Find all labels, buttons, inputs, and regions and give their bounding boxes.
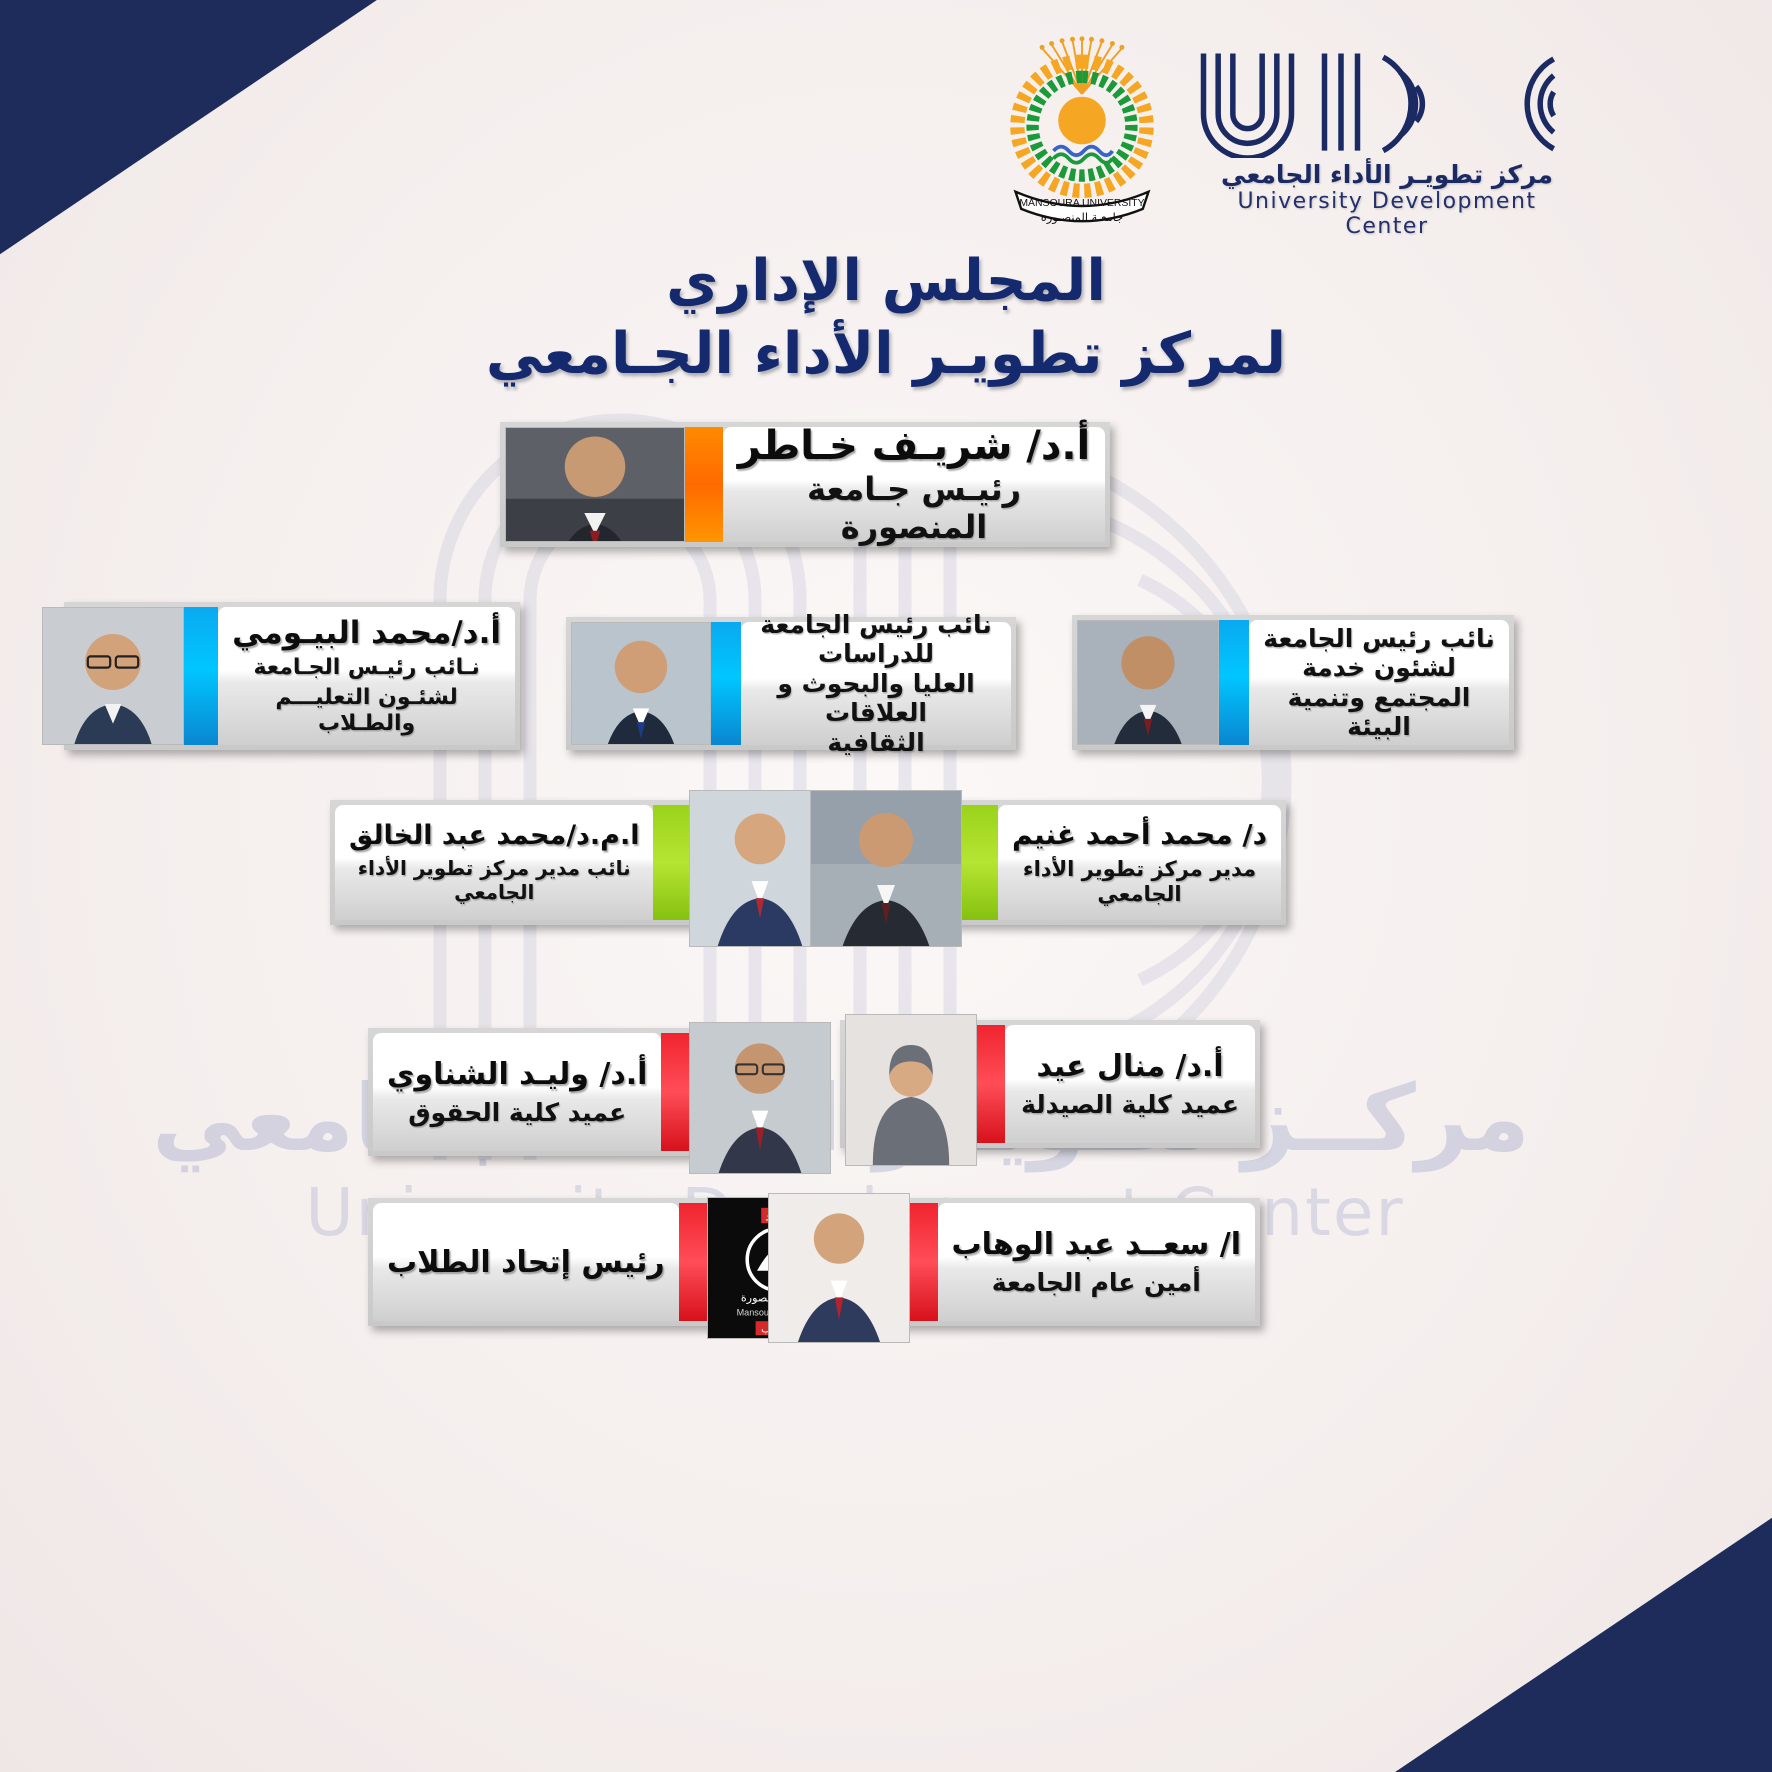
member-card-text: أ.د/ شريـف خـاطر رئيـس جـامعة المنصورة (723, 427, 1105, 542)
member-name: د/ محمد أحمد غنيم (1012, 818, 1267, 851)
member-accent-bar (910, 1203, 938, 1321)
member-card-dean-law[interactable]: أ.د/ وليـد الشناوي عميد كلية الحقوق (368, 1028, 793, 1156)
member-accent-bar (711, 622, 741, 745)
member-accent-bar (184, 607, 218, 745)
member-role: نائب مدير مركز تطوير الأداء الجامعي (349, 857, 639, 904)
member-role-line2: لشئون خدمة المجتمع وتنمية (1263, 653, 1495, 712)
member-card-vp-education[interactable]: أ.د/محمد البيـومي نـائب رئيـس الجـامعة ل… (64, 602, 520, 750)
member-name: ا.م.د/محمد عبد الخالق (349, 820, 639, 851)
member-role-line2: لشئـون التعليـــم والطـلاب (232, 685, 501, 737)
member-name: أ.د/ وليـد الشناوي (387, 1057, 647, 1092)
member-photo (1077, 620, 1219, 745)
udc-logo: مركز تطويـر الأداء الجامعي University De… (1202, 48, 1572, 233)
member-card-secretary-general[interactable]: ا/ سعــد عبد الوهاب أمين عام الجامعة (828, 1198, 1260, 1326)
portrait-placeholder-icon (846, 1015, 976, 1165)
poster-root: مركــز تطويــر الأداء الجــامعي Universi… (0, 0, 1772, 1772)
member-card-text: ا/ سعــد عبد الوهاب أمين عام الجامعة (938, 1203, 1255, 1321)
member-photo (845, 1014, 977, 1166)
member-accent-bar (661, 1033, 689, 1151)
member-card-president[interactable]: أ.د/ شريـف خـاطر رئيـس جـامعة المنصورة (500, 422, 1110, 547)
member-card-text: نائب رئيس الجامعة للدراسات العليا والبحو… (741, 622, 1011, 745)
member-role-line3: البيئة (1347, 712, 1411, 742)
member-role: نائب رئيس الجامعة للدراسات (755, 610, 997, 669)
udc-english-label: University Development Center (1202, 189, 1572, 239)
mansoura-university-seal-icon: MANSOURA UNIVERSITY جامعـة المنصـورة (987, 35, 1177, 225)
member-photo (42, 607, 184, 745)
member-role-line3: الثقافية (827, 728, 924, 758)
member-name: أ.د/ شريـف خـاطر (738, 423, 1091, 469)
member-name: أ.د/محمد البيـومي (232, 615, 501, 651)
poster-header: MANSOURA UNIVERSITY جامعـة المنصـورة (0, 30, 1772, 230)
member-role: نـائب رئيـس الجـامعة (253, 655, 479, 681)
member-role: نائب رئيس الجامعة (1263, 624, 1494, 654)
member-accent-bar (962, 805, 998, 920)
portrait-placeholder-icon (1078, 621, 1218, 744)
udc-monogram-icon (1187, 48, 1572, 158)
member-card-text: د/ محمد أحمد غنيم مدير مركز تطوير الأداء… (998, 805, 1281, 920)
member-role: رئيـس جـامعة المنصورة (737, 471, 1091, 547)
member-accent-bar (685, 427, 723, 542)
portrait-placeholder-icon (690, 1023, 830, 1173)
member-role: عميد كلية الصيدلة (1021, 1090, 1239, 1120)
member-card-text: أ.د/ وليـد الشناوي عميد كلية الحقوق (373, 1033, 661, 1151)
portrait-placeholder-icon (43, 608, 183, 744)
member-name: رئيس إتحاد الطلاب (387, 1245, 665, 1280)
member-card-dean-pharmacy[interactable]: أ.د/ منال عيد عميد كلية الصيدلة (840, 1020, 1260, 1148)
bottom-right-navy-ribbon (673, 1420, 1772, 1772)
portrait-placeholder-icon (506, 428, 684, 541)
member-photo (505, 427, 685, 542)
page-title-line2: لمركز تطويـر الأداء الجـامعي (0, 318, 1772, 391)
member-name: أ.د/ منال عيد (1036, 1049, 1223, 1084)
member-role: مدير مركز تطوير الأداء الجامعي (1012, 857, 1267, 907)
svg-text:جامعـة المنصـورة: جامعـة المنصـورة (1041, 210, 1123, 225)
page-title-line1: المجلس الإداري (0, 245, 1772, 318)
svg-text:MANSOURA UNIVERSITY: MANSOURA UNIVERSITY (1019, 198, 1144, 209)
portrait-placeholder-icon (769, 1194, 909, 1342)
member-photo (689, 1022, 831, 1174)
top-left-red-ribbon (0, 0, 490, 34)
member-card-director[interactable]: د/ محمد أحمد غنيم مدير مركز تطوير الأداء… (824, 800, 1286, 925)
member-card-deputy-director[interactable]: ا.م.د/محمد عبد الخالق نائب مدير مركز تطو… (330, 800, 790, 925)
member-role: أمين عام الجامعة (992, 1268, 1201, 1298)
portrait-placeholder-icon (811, 791, 961, 946)
member-card-text: ا.م.د/محمد عبد الخالق نائب مدير مركز تطو… (335, 805, 653, 920)
portrait-placeholder-icon (572, 623, 710, 744)
member-card-text: أ.د/ منال عيد عميد كلية الصيدلة (1005, 1025, 1255, 1143)
bottom-right-red-ribbon (1282, 1738, 1772, 1772)
bottom-right-white-ribbon (1377, 1653, 1772, 1772)
member-card-text: رئيس إتحاد الطلاب (373, 1203, 679, 1321)
member-photo (571, 622, 711, 745)
member-card-students-union[interactable]: رئيس إتحاد الطلاب اتحــاد جامعة المنصورة… (368, 1198, 793, 1326)
member-card-vp-community-service[interactable]: نائب رئيس الجامعة لشئون خدمة المجتمع وتن… (1072, 615, 1514, 750)
member-accent-bar (653, 805, 689, 920)
member-accent-bar (977, 1025, 1005, 1143)
member-photo (768, 1193, 910, 1343)
member-card-text: أ.د/محمد البيـومي نـائب رئيـس الجـامعة ل… (218, 607, 515, 745)
member-photo (810, 790, 962, 947)
member-name: ا/ سعــد عبد الوهاب (952, 1227, 1241, 1262)
member-card-vp-graduate-studies[interactable]: نائب رئيس الجامعة للدراسات العليا والبحو… (566, 617, 1016, 750)
member-accent-bar (1219, 620, 1249, 745)
udc-arabic-label: مركز تطويـر الأداء الجامعي (1202, 160, 1572, 189)
member-accent-bar (679, 1203, 707, 1321)
member-card-text: نائب رئيس الجامعة لشئون خدمة المجتمع وتن… (1249, 620, 1509, 745)
page-title: المجلس الإداري لمركز تطويـر الأداء الجـا… (0, 245, 1772, 391)
member-role: عميد كلية الحقوق (408, 1098, 626, 1128)
member-role-line2: العليا والبحوث و العلاقات (755, 669, 997, 728)
